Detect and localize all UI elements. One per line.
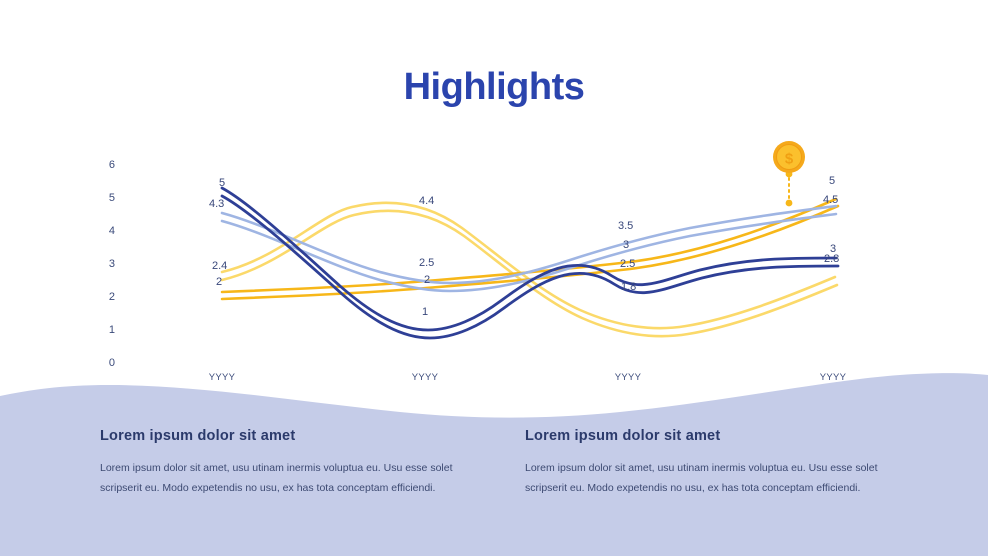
column-heading: Lorem ipsum dolor sit amet	[525, 428, 915, 444]
column-heading: Lorem ipsum dolor sit amet	[100, 428, 490, 444]
coin-dollar-icon[interactable]: $	[773, 141, 805, 173]
series-navy	[222, 188, 838, 338]
data-label: 4.4	[419, 195, 434, 207]
data-label: 5	[219, 177, 225, 189]
line-chart: $ 6 5 4 3 2 1 0 YYYY YYYY YYYY YYYY 5 4.…	[0, 0, 988, 400]
y-tick-1: 1	[95, 324, 115, 336]
data-label: 4.5	[823, 194, 838, 206]
column-body: Lorem ipsum dolor sit amet, usu utinam i…	[525, 458, 905, 499]
text-column-left: Lorem ipsum dolor sit amet Lorem ipsum d…	[100, 428, 490, 499]
text-column-right: Lorem ipsum dolor sit amet Lorem ipsum d…	[525, 428, 915, 499]
data-label: 1.8	[621, 281, 636, 293]
data-label: 2.5	[419, 257, 434, 269]
y-tick-4: 4	[95, 225, 115, 237]
y-tick-6: 6	[95, 159, 115, 171]
data-label: 2	[424, 274, 430, 286]
svg-text:$: $	[785, 151, 794, 168]
slide-root: Highlights	[0, 0, 988, 556]
coin-connector	[786, 171, 793, 207]
data-label: 1	[422, 306, 428, 318]
chart-canvas: $	[0, 0, 988, 400]
data-label: 5	[829, 175, 835, 187]
y-tick-3: 3	[95, 258, 115, 270]
data-label: 2.5	[620, 258, 635, 270]
data-label: 4.3	[209, 198, 224, 210]
data-label: 2.4	[212, 260, 227, 272]
y-tick-5: 5	[95, 192, 115, 204]
column-body: Lorem ipsum dolor sit amet, usu utinam i…	[100, 458, 480, 499]
data-label: 2	[216, 276, 222, 288]
data-label: 3.5	[618, 220, 633, 232]
data-label: 2.8	[824, 253, 839, 265]
data-label: 3	[623, 239, 629, 251]
y-tick-2: 2	[95, 291, 115, 303]
